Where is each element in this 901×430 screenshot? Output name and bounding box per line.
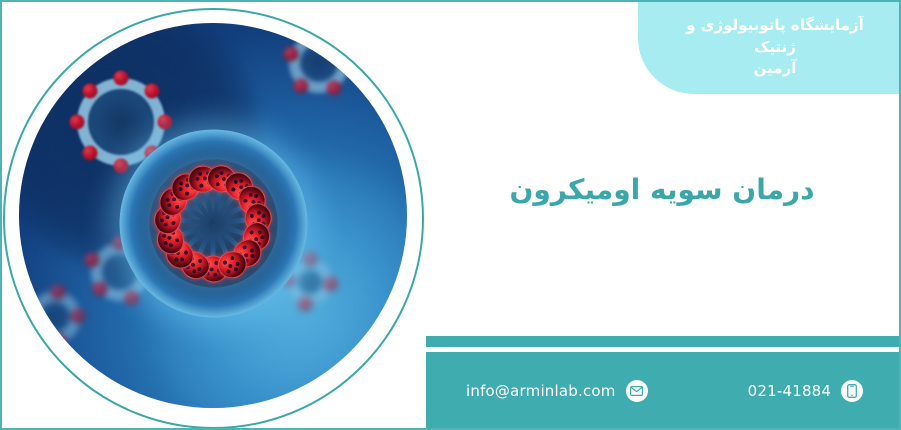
primary-virion-icon bbox=[111, 121, 316, 326]
page-title: درمان سویه اومیکرون bbox=[442, 170, 882, 209]
contact-email[interactable]: info@arminlab.com bbox=[466, 380, 648, 402]
background-virion-icon bbox=[289, 33, 349, 93]
lab-name-line2: آرمین bbox=[754, 59, 797, 77]
contact-phone-text: 021-41884 bbox=[748, 382, 832, 400]
hero-virus-image bbox=[19, 23, 407, 408]
contact-email-text: info@arminlab.com bbox=[466, 382, 616, 400]
background-virion-icon bbox=[29, 291, 81, 343]
mobile-phone-icon bbox=[841, 380, 863, 402]
footer-accent-strip bbox=[426, 336, 900, 347]
lab-name: آزمایشگاه پاتوبیولوژی و ژنتیک آرمین bbox=[664, 15, 886, 80]
header-bar: آزمایشگاه پاتوبیولوژی و ژنتیک آرمین bbox=[638, 1, 900, 94]
contact-phone[interactable]: 021-41884 bbox=[748, 380, 864, 402]
footer-bar: info@arminlab.com 021-41884 bbox=[426, 352, 900, 429]
lab-name-line1: آزمایشگاه پاتوبیولوژی و ژنتیک bbox=[686, 16, 863, 56]
poster-canvas: آزمایشگاه پاتوبیولوژی و ژنتیک آرمین درما… bbox=[0, 0, 901, 430]
envelope-icon bbox=[626, 380, 648, 402]
